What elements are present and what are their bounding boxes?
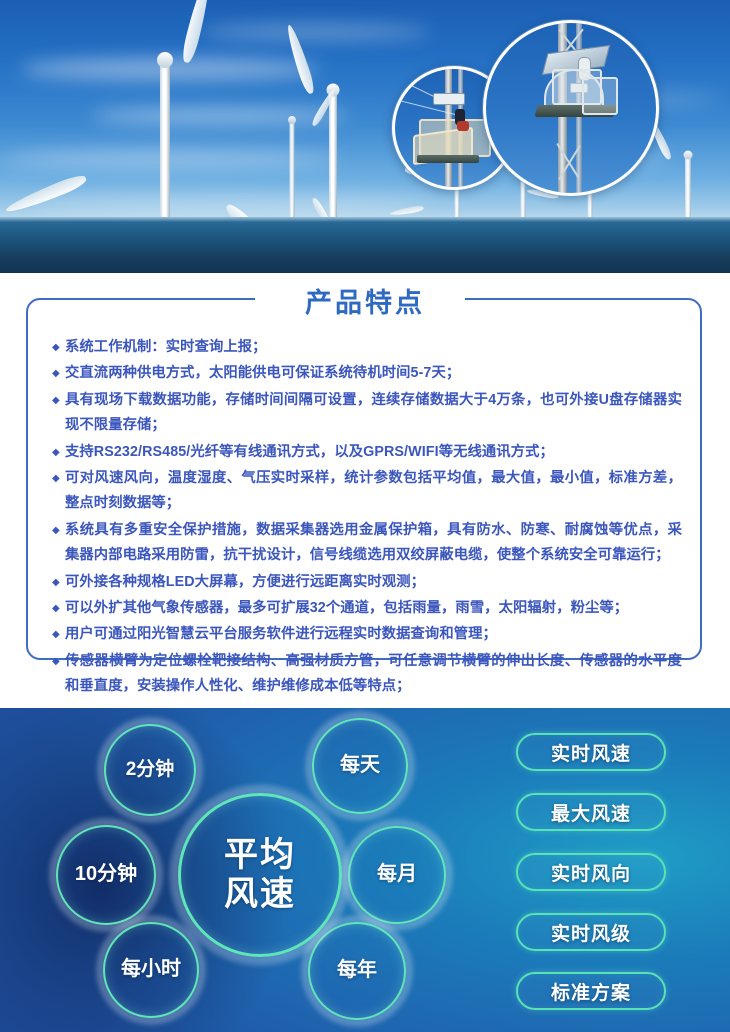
diamond-bullet-icon: ◆ [52, 361, 60, 386]
metric-bubble-monthly[interactable]: 每月 [348, 826, 446, 924]
feature-item: ◆传感器横臂为定位螺栓靶接结构、高强材质方管，可任意调节横臂的伸出长度、传感器的… [52, 649, 682, 700]
feature-text: 支持RS232/RS485/光纤等有线通讯方式，以及GPRS/WIFI等无线通讯… [65, 444, 554, 460]
diamond-bullet-icon: ◆ [52, 518, 60, 543]
wind-metrics-section: 2分钟 每天 10分钟 每月 每小时 每年 [0, 708, 730, 1032]
sea-surface [0, 217, 730, 273]
sensor-box [433, 93, 465, 105]
cloud-wisp [200, 24, 430, 40]
diamond-bullet-icon: ◆ [52, 649, 60, 674]
diamond-bullet-icon: ◆ [52, 466, 60, 491]
platform-railing [582, 77, 618, 115]
feature-text: 系统工作机制：实时查询上报； [65, 339, 267, 355]
feature-item: ◆可对风速风向，温度湿度、气压实时采样，统计参数包括平均值，最大值，最小值，标准… [52, 466, 682, 517]
chip-label: 最大风速 [551, 799, 631, 826]
chip-label: 标准方案 [551, 978, 631, 1005]
metric-chip-realtime-wind-direction[interactable]: 实时风向 [516, 853, 666, 891]
feature-item: ◆系统具有多重安全保护措施，数据采集器选用金属保护箱，具有防水、防寒、耐腐蚀等优… [52, 518, 682, 569]
feature-item: ◆可以外扩其他气象传感器，最多可扩展32个通道，包括雨量，雨雪，太阳辐射，粉尘等… [52, 596, 682, 621]
diamond-bullet-icon: ◆ [52, 570, 60, 595]
metric-chip-realtime-wind-speed[interactable]: 实时风速 [516, 733, 666, 771]
feature-text: 可以外扩其他气象传感器，最多可扩展32个通道，包括雨量，雨雪，太阳辐射，粉尘等； [65, 600, 628, 616]
feature-item: ◆用户可通过阳光智慧云平台服务软件进行远程实时数据查询和管理； [52, 622, 682, 647]
metric-chip-max-wind-speed[interactable]: 最大风速 [516, 793, 666, 831]
hero-banner [0, 0, 730, 273]
features-section: 产品特点 ◆系统工作机制：实时查询上报； ◆交直流两种供电方式，太阳能供电可保证… [0, 273, 730, 708]
diamond-bullet-icon: ◆ [52, 388, 60, 413]
feature-item: ◆系统工作机制：实时查询上报； [52, 335, 682, 360]
diamond-bullet-icon: ◆ [52, 622, 60, 647]
turbine-hub [288, 116, 296, 124]
turbine-hub [684, 151, 693, 160]
bubble-label-line1: 平均 [224, 836, 296, 875]
feature-item: ◆交直流两种供电方式，太阳能供电可保证系统待机时间5-7天； [52, 361, 682, 386]
bubble-label: 10分钟 [56, 825, 156, 925]
bubble-label-line2: 风速 [224, 875, 296, 914]
feature-text: 传感器横臂为定位螺栓靶接结构、高强材质方管，可任意调节横臂的伸出长度、传感器的水… [65, 653, 682, 694]
platform-deck [417, 155, 479, 163]
bubble-label: 平均 风速 [178, 793, 342, 957]
chip-label: 实时风速 [551, 739, 631, 766]
feature-text: 交直流两种供电方式，太阳能供电可保证系统待机时间5-7天； [65, 365, 460, 381]
metric-chip-realtime-wind-scale[interactable]: 实时风级 [516, 913, 666, 951]
feature-item: ◆支持RS232/RS485/光纤等有线通讯方式，以及GPRS/WIFI等无线通… [52, 440, 682, 465]
metric-bubble-average-wind-speed[interactable]: 平均 风速 [178, 793, 342, 957]
feature-text: 可对风速风向，温度湿度、气压实时采样，统计参数包括平均值，最大值，最小值，标准方… [65, 470, 682, 511]
diamond-bullet-icon: ◆ [52, 596, 60, 621]
feature-item: ◆具有现场下载数据功能，存储时间间隔可设置，连续存储数据大于4万条，也可外接U盘… [52, 388, 682, 439]
bubble-label: 每月 [348, 826, 446, 924]
chip-label: 实时风级 [551, 919, 631, 946]
chip-label: 实时风向 [551, 859, 631, 886]
product-feature-page: 产品特点 ◆系统工作机制：实时查询上报； ◆交直流两种供电方式，太阳能供电可保证… [0, 0, 730, 1032]
diamond-bullet-icon: ◆ [52, 440, 60, 465]
metric-chip-standard-solution[interactable]: 标准方案 [516, 972, 666, 1010]
feature-text: 系统具有多重安全保护措施，数据采集器选用金属保护箱，具有防水、防寒、耐腐蚀等优点… [65, 522, 682, 563]
feature-text: 用户可通过阳光智慧云平台服务软件进行远程实时数据查询和管理； [65, 626, 497, 642]
feature-item: ◆可外接各种规格LED大屏幕，方便进行远距离实时观测； [52, 570, 682, 595]
feature-text: 可外接各种规格LED大屏幕，方便进行远距离实时观测； [65, 574, 425, 590]
diamond-bullet-icon: ◆ [52, 335, 60, 360]
feature-list: ◆系统工作机制：实时查询上报； ◆交直流两种供电方式，太阳能供电可保证系统待机时… [52, 335, 682, 701]
page-title: 产品特点 [0, 281, 730, 320]
metric-bubble-10min[interactable]: 10分钟 [56, 825, 156, 925]
worker-figure [457, 121, 469, 131]
inset-photo-met-mast [483, 20, 659, 196]
turbine-hub [157, 52, 173, 68]
feature-text: 具有现场下载数据功能，存储时间间隔可设置，连续存储数据大于4万条，也可外接U盘存… [65, 392, 682, 433]
